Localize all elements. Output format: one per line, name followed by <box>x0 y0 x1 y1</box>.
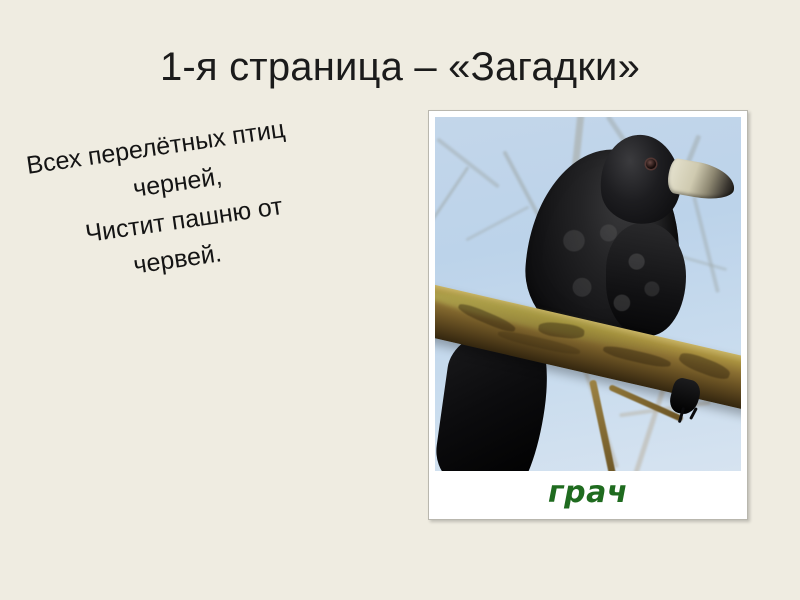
slide: 1-я страница – «Загадки» Всех перелётных… <box>0 0 800 600</box>
photo-caption-strip: грач <box>435 471 741 513</box>
background-twig <box>692 196 720 293</box>
bird-photo <box>435 117 741 471</box>
background-twig <box>436 137 500 188</box>
photo-card: грач <box>428 110 748 520</box>
page-title: 1-я страница – «Загадки» <box>0 44 800 90</box>
photo-caption: грач <box>548 475 628 510</box>
background-twig <box>466 205 530 241</box>
background-twig <box>435 166 470 244</box>
riddle-text-block: Всех перелётных птиц черней, Чистит пашн… <box>18 101 366 299</box>
